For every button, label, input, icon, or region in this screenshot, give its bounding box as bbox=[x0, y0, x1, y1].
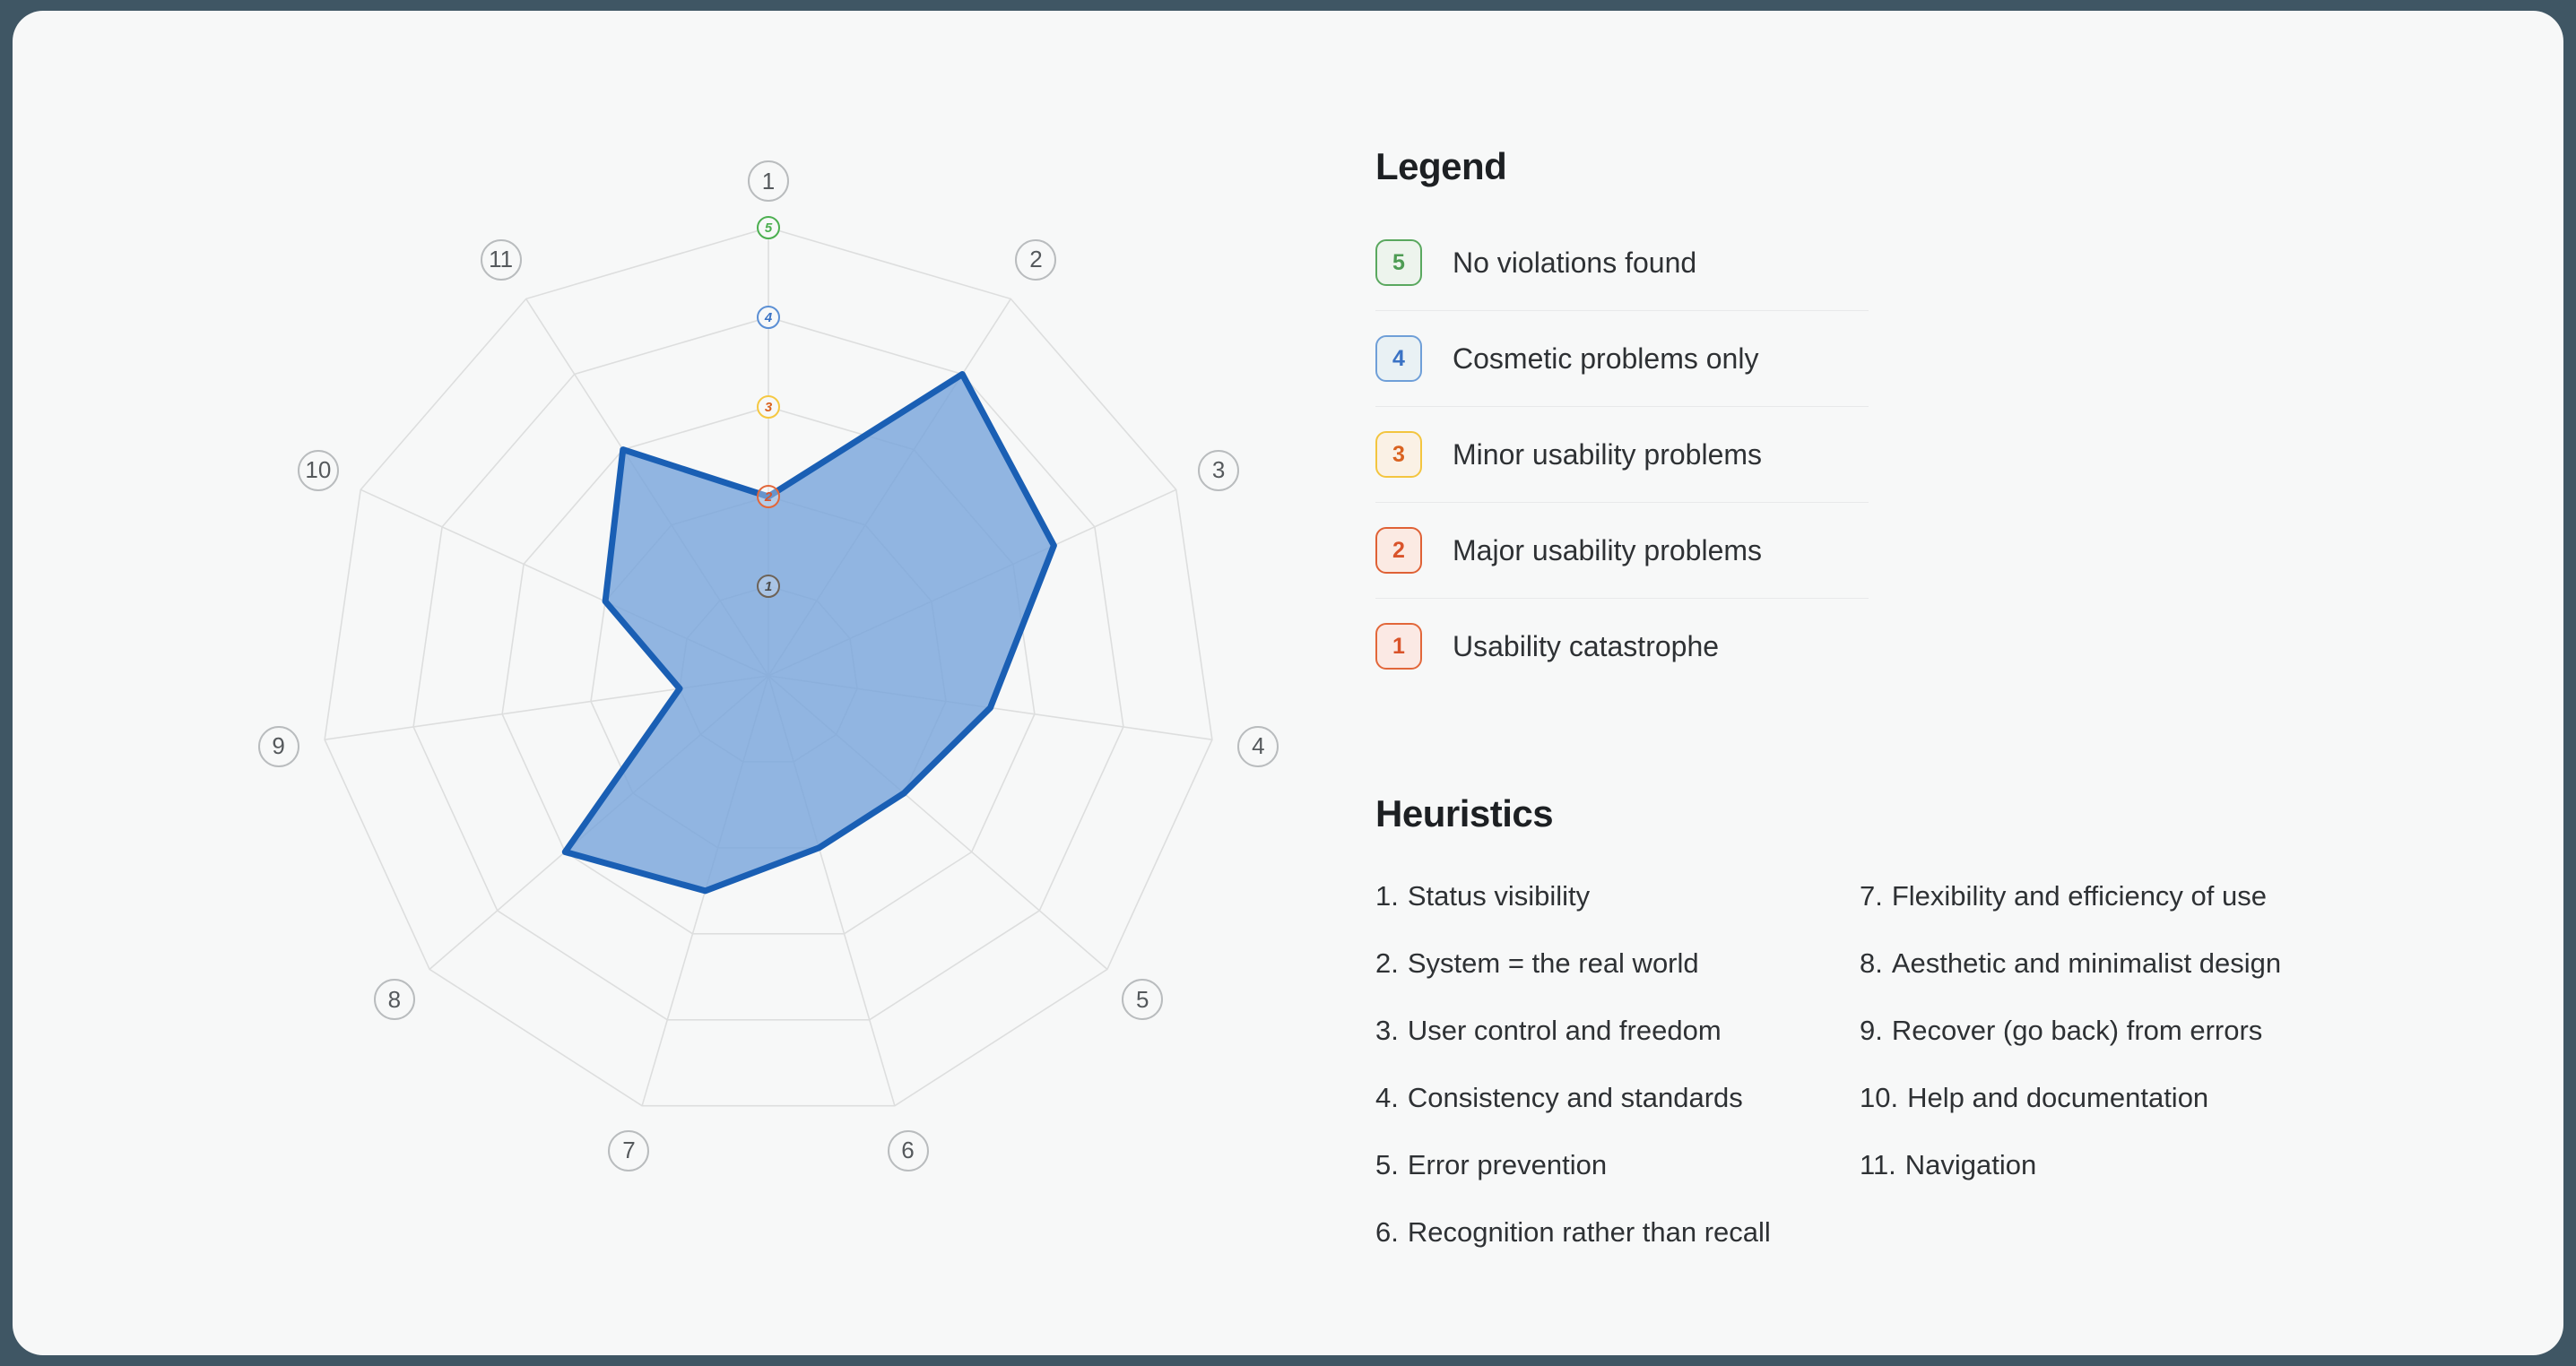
heuristic-item: 6.Recognition rather than recall bbox=[1375, 1198, 1860, 1266]
heuristic-number: 11. bbox=[1860, 1149, 1896, 1181]
radar-axis-label-4[interactable]: 4 bbox=[1237, 726, 1279, 767]
heuristic-label: Recognition rather than recall bbox=[1408, 1216, 1771, 1249]
heuristic-label: Status visibility bbox=[1408, 880, 1590, 912]
heuristic-label: Help and documentation bbox=[1907, 1082, 2208, 1114]
heuristics-title: Heuristics bbox=[1375, 792, 2478, 835]
heuristic-item: 3.User control and freedom bbox=[1375, 997, 1860, 1064]
heuristic-label: Recover (go back) from errors bbox=[1892, 1015, 2262, 1047]
heuristic-item: 10.Help and documentation bbox=[1860, 1064, 2344, 1131]
radar-axis-label-1[interactable]: 1 bbox=[748, 160, 789, 202]
heuristic-number: 2. bbox=[1375, 947, 1399, 980]
heuristic-number: 8. bbox=[1860, 947, 1883, 980]
legend-score-swatch: 1 bbox=[1375, 623, 1422, 670]
radar-axis-label-8[interactable]: 8 bbox=[374, 979, 415, 1020]
heuristic-item: 11.Navigation bbox=[1860, 1131, 2344, 1198]
heuristic-item: 8.Aesthetic and minimalist design bbox=[1860, 929, 2344, 997]
legend-score-swatch: 2 bbox=[1375, 527, 1422, 574]
heuristic-item: 7.Flexibility and efficiency of use bbox=[1860, 862, 2344, 929]
radar-axis-label-7[interactable]: 7 bbox=[608, 1130, 649, 1171]
radar-axis-label-11[interactable]: 11 bbox=[481, 239, 522, 281]
heuristic-item: 1.Status visibility bbox=[1375, 862, 1860, 929]
radar-ring-label-2: 2 bbox=[757, 485, 780, 508]
heuristic-item: 9.Recover (go back) from errors bbox=[1860, 997, 2344, 1064]
heuristic-number: 3. bbox=[1375, 1015, 1399, 1047]
legend-score-swatch: 3 bbox=[1375, 431, 1422, 478]
radar-chart-svg bbox=[66, 65, 1322, 1301]
heuristic-label: System = the real world bbox=[1408, 947, 1699, 980]
radar-ring-label-3: 3 bbox=[757, 395, 780, 419]
heuristic-number: 4. bbox=[1375, 1082, 1399, 1114]
legend-row[interactable]: 5No violations found bbox=[1375, 215, 1869, 311]
legend-score-swatch: 5 bbox=[1375, 239, 1422, 286]
heuristic-item: 2.System = the real world bbox=[1375, 929, 1860, 997]
heuristic-label: Error prevention bbox=[1408, 1149, 1607, 1181]
app-card: 1234567891011 12345 Legend 5No violation… bbox=[13, 11, 2563, 1355]
legend-row[interactable]: 1Usability catastrophe bbox=[1375, 599, 1869, 694]
heuristic-item: 4.Consistency and standards bbox=[1375, 1064, 1860, 1131]
legend-title: Legend bbox=[1375, 145, 2478, 188]
legend-row[interactable]: 2Major usability problems bbox=[1375, 503, 1869, 599]
legend-label: Cosmetic problems only bbox=[1453, 342, 1758, 376]
heuristic-label: Flexibility and efficiency of use bbox=[1892, 880, 2267, 912]
heuristic-number: 10. bbox=[1860, 1082, 1898, 1114]
heuristic-label: User control and freedom bbox=[1408, 1015, 1722, 1047]
heuristic-number: 6. bbox=[1375, 1216, 1399, 1249]
radar-axis-label-3[interactable]: 3 bbox=[1198, 450, 1239, 491]
legend-label: No violations found bbox=[1453, 246, 1696, 280]
legend-label: Usability catastrophe bbox=[1453, 630, 1719, 663]
heuristic-label: Aesthetic and minimalist design bbox=[1892, 947, 2281, 980]
legend-label: Minor usability problems bbox=[1453, 438, 1762, 471]
legend-list: 5No violations found4Cosmetic problems o… bbox=[1375, 215, 1869, 694]
radar-axis-label-9[interactable]: 9 bbox=[258, 726, 299, 767]
radar-ring-label-5: 5 bbox=[757, 216, 780, 239]
heuristic-number: 5. bbox=[1375, 1149, 1399, 1181]
legend-label: Major usability problems bbox=[1453, 534, 1762, 567]
radar-ring-label-1: 1 bbox=[757, 575, 780, 598]
heuristic-item bbox=[1860, 1198, 2344, 1266]
heuristic-number: 9. bbox=[1860, 1015, 1883, 1047]
heuristic-item: 5.Error prevention bbox=[1375, 1131, 1860, 1198]
heuristic-label: Consistency and standards bbox=[1408, 1082, 1743, 1114]
heuristic-label: Navigation bbox=[1905, 1149, 2036, 1181]
info-panel: Legend 5No violations found4Cosmetic pro… bbox=[1375, 145, 2478, 1266]
radar-axis-label-6[interactable]: 6 bbox=[888, 1130, 929, 1171]
radar-ring-label-4: 4 bbox=[757, 306, 780, 329]
heuristic-number: 7. bbox=[1860, 880, 1883, 912]
radar-axis-label-2[interactable]: 2 bbox=[1015, 239, 1056, 281]
radar-data-polygon bbox=[565, 375, 1054, 891]
legend-row[interactable]: 4Cosmetic problems only bbox=[1375, 311, 1869, 407]
heuristics-grid: 1.Status visibility7.Flexibility and eff… bbox=[1375, 862, 2478, 1266]
radar-chart: 1234567891011 12345 bbox=[66, 65, 1322, 1301]
legend-score-swatch: 4 bbox=[1375, 335, 1422, 382]
radar-axis-label-5[interactable]: 5 bbox=[1122, 979, 1163, 1020]
radar-axis-label-10[interactable]: 10 bbox=[298, 450, 339, 491]
legend-row[interactable]: 3Minor usability problems bbox=[1375, 407, 1869, 503]
heuristic-number: 1. bbox=[1375, 880, 1399, 912]
